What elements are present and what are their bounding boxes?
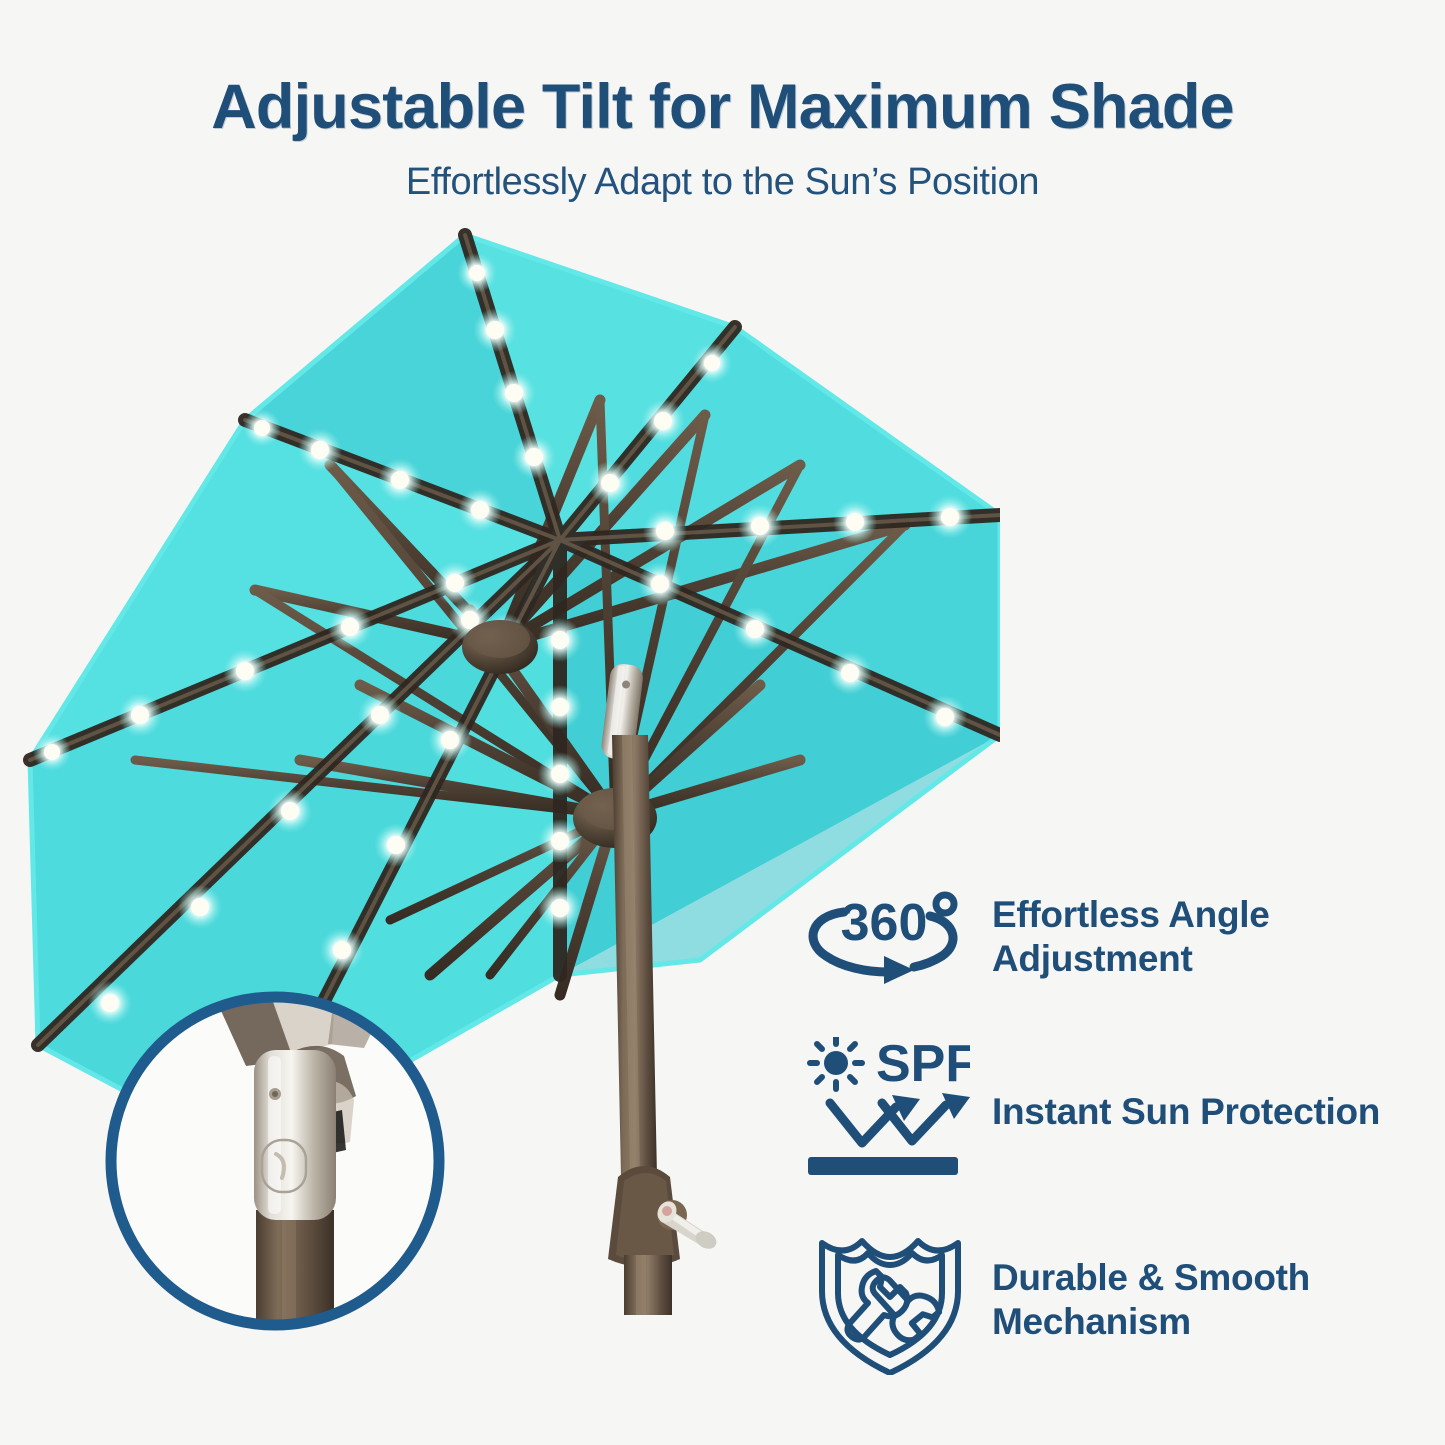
shield-wrench-icon	[800, 1225, 970, 1375]
marketing-image: Adjustable Tilt for Maximum Shade Effort…	[0, 0, 1445, 1445]
feature-list: 360 Effortless Angle Adjustment	[800, 862, 1440, 1387]
header: Adjustable Tilt for Maximum Shade Effort…	[0, 0, 1445, 204]
page-subtitle: Effortlessly Adapt to the Sun’s Position	[0, 162, 1445, 204]
rotation-360-label: 360	[841, 894, 928, 952]
feature-item-durable-mechanism: Durable & Smooth Mechanism	[800, 1212, 1440, 1387]
page-title: Adjustable Tilt for Maximum Shade	[0, 74, 1445, 140]
rotation-360-icon: 360	[800, 882, 970, 992]
feature-item-sun-protection: SPF Instant Sun Protection	[800, 1012, 1440, 1212]
spf-sun-protection-icon: SPF	[800, 1037, 970, 1187]
feature-label-sun-protection: Instant Sun Protection	[992, 1090, 1380, 1134]
inset-photo	[96, 982, 454, 1340]
feature-item-angle-adjustment: 360 Effortless Angle Adjustment	[800, 862, 1440, 1012]
feature-label-angle-adjustment: Effortless Angle Adjustment	[992, 893, 1270, 980]
spf-label: SPF	[876, 1037, 970, 1093]
upper-hub	[462, 620, 538, 674]
feature-label-durable-mechanism: Durable & Smooth Mechanism	[992, 1256, 1310, 1343]
tilt-mechanism-inset	[96, 982, 454, 1340]
